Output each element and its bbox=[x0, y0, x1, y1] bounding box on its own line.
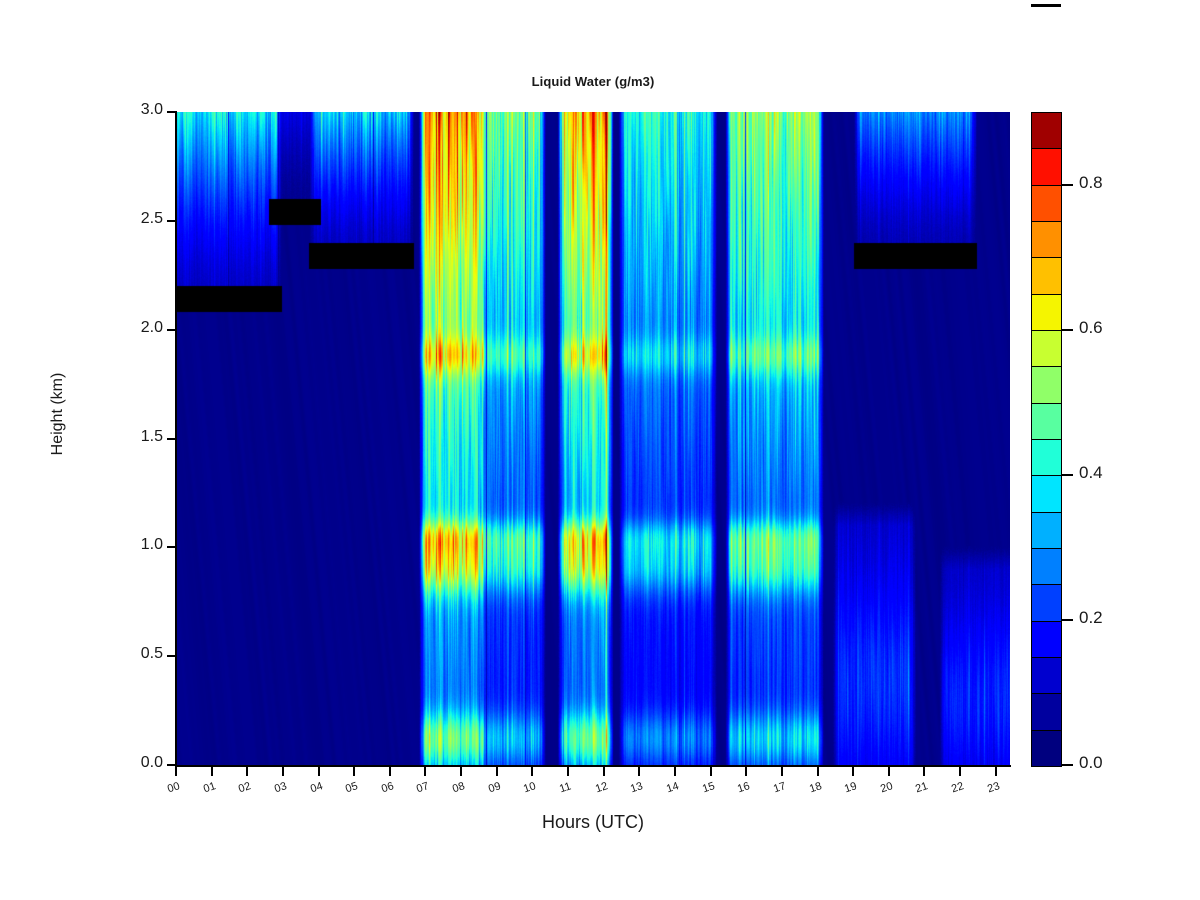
heatmap-plot-area[interactable] bbox=[176, 112, 1010, 765]
y-tick-label: 3.0 bbox=[107, 101, 163, 119]
colorbar-block bbox=[1032, 731, 1061, 766]
colorbar-tick-label: 0.2 bbox=[1079, 608, 1103, 628]
colorbar-block bbox=[1032, 331, 1061, 367]
colorbar-block bbox=[1032, 440, 1061, 476]
figure-canvas: Liquid Water (g/m3) 0.00.51.01.52.02.53.… bbox=[0, 0, 1200, 900]
y-tick-label: 1.5 bbox=[107, 428, 163, 446]
colorbar-block bbox=[1032, 295, 1061, 331]
y-axis-line bbox=[175, 111, 177, 766]
colorbar-tick-mark bbox=[1062, 619, 1073, 621]
colorbar-block bbox=[1032, 622, 1061, 658]
x-tick-label: 07 bbox=[415, 780, 430, 795]
colorbar-tick-mark bbox=[1062, 764, 1073, 766]
x-tick-label: 00 bbox=[166, 780, 181, 795]
x-tick-label: 11 bbox=[558, 780, 573, 795]
x-tick-label: 18 bbox=[808, 780, 823, 795]
corner-artifact bbox=[1031, 4, 1061, 7]
x-tick-label: 06 bbox=[380, 780, 395, 795]
x-tick-label: 14 bbox=[665, 780, 680, 795]
x-tick-mark bbox=[710, 767, 712, 776]
x-tick-label: 01 bbox=[202, 780, 217, 795]
y-tick-label: 2.0 bbox=[107, 319, 163, 337]
x-tick-label: 12 bbox=[594, 780, 609, 795]
y-axis-title: Height (km) bbox=[49, 334, 67, 494]
colorbar-block bbox=[1032, 658, 1061, 694]
colorbar-block bbox=[1032, 513, 1061, 549]
x-tick-mark bbox=[460, 767, 462, 776]
y-tick-mark bbox=[167, 329, 175, 331]
y-tick-label: 0.5 bbox=[107, 645, 163, 663]
x-tick-mark bbox=[567, 767, 569, 776]
x-tick-label: 09 bbox=[487, 780, 502, 795]
x-tick-mark bbox=[888, 767, 890, 776]
x-tick-label: 16 bbox=[736, 780, 751, 795]
y-tick-label: 1.0 bbox=[107, 536, 163, 554]
x-tick-label: 10 bbox=[522, 780, 537, 795]
x-tick-mark bbox=[995, 767, 997, 776]
colorbar-block bbox=[1032, 367, 1061, 403]
x-tick-mark bbox=[531, 767, 533, 776]
colorbar-tick-label: 0.0 bbox=[1079, 753, 1103, 773]
colorbar-tick-label: 0.4 bbox=[1079, 463, 1103, 483]
x-tick-label: 23 bbox=[986, 780, 1001, 795]
y-tick-label: 2.5 bbox=[107, 210, 163, 228]
y-tick-mark bbox=[167, 546, 175, 548]
y-tick-mark bbox=[167, 438, 175, 440]
x-axis-line bbox=[175, 765, 1011, 767]
colorbar-block bbox=[1032, 694, 1061, 730]
colorbar-block bbox=[1032, 149, 1061, 185]
x-tick-label: 19 bbox=[843, 780, 858, 795]
x-tick-mark bbox=[246, 767, 248, 776]
x-tick-label: 15 bbox=[701, 780, 716, 795]
x-tick-mark bbox=[496, 767, 498, 776]
x-tick-label: 22 bbox=[950, 780, 965, 795]
page-title: Liquid Water (g/m3) bbox=[176, 74, 1010, 89]
colorbar-tick-mark bbox=[1062, 329, 1073, 331]
y-axis-tick-labels: 0.00.51.01.52.02.53.0 bbox=[103, 0, 163, 900]
colorbar-block bbox=[1032, 476, 1061, 512]
x-tick-mark bbox=[781, 767, 783, 776]
y-tick-mark bbox=[167, 764, 175, 766]
y-tick-mark bbox=[167, 655, 175, 657]
x-tick-label: 03 bbox=[273, 780, 288, 795]
colorbar-tick-mark bbox=[1062, 474, 1073, 476]
colorbar-block bbox=[1032, 585, 1061, 621]
x-tick-label: 13 bbox=[629, 780, 644, 795]
x-axis-title: Hours (UTC) bbox=[176, 812, 1010, 833]
x-tick-label: 05 bbox=[344, 780, 359, 795]
x-tick-mark bbox=[745, 767, 747, 776]
x-tick-label: 21 bbox=[914, 780, 929, 795]
x-tick-label: 08 bbox=[451, 780, 466, 795]
x-tick-mark bbox=[211, 767, 213, 776]
x-tick-label: 20 bbox=[879, 780, 894, 795]
x-tick-label: 17 bbox=[772, 780, 787, 795]
y-tick-label: 0.0 bbox=[107, 754, 163, 772]
colorbar-block bbox=[1032, 222, 1061, 258]
colorbar-tick-label: 0.6 bbox=[1079, 318, 1103, 338]
x-tick-mark bbox=[175, 767, 177, 776]
x-tick-mark bbox=[959, 767, 961, 776]
x-tick-mark bbox=[282, 767, 284, 776]
x-tick-mark bbox=[852, 767, 854, 776]
heatmap-canvas[interactable] bbox=[176, 112, 1010, 765]
colorbar-block bbox=[1032, 113, 1061, 149]
x-tick-mark bbox=[923, 767, 925, 776]
x-tick-mark bbox=[638, 767, 640, 776]
colorbar-block bbox=[1032, 186, 1061, 222]
y-tick-mark bbox=[167, 220, 175, 222]
x-tick-mark bbox=[674, 767, 676, 776]
x-tick-mark bbox=[318, 767, 320, 776]
x-tick-mark bbox=[817, 767, 819, 776]
x-tick-mark bbox=[424, 767, 426, 776]
colorbar-block bbox=[1032, 258, 1061, 294]
x-tick-mark bbox=[353, 767, 355, 776]
colorbar-tick-mark bbox=[1062, 184, 1073, 186]
y-tick-mark bbox=[167, 111, 175, 113]
colorbar-tick-label: 0.8 bbox=[1079, 173, 1103, 193]
x-tick-mark bbox=[389, 767, 391, 776]
colorbar[interactable] bbox=[1031, 112, 1062, 767]
x-tick-mark bbox=[603, 767, 605, 776]
colorbar-block bbox=[1032, 404, 1061, 440]
x-tick-label: 02 bbox=[237, 780, 252, 795]
colorbar-block bbox=[1032, 549, 1061, 585]
x-tick-label: 04 bbox=[309, 780, 324, 795]
